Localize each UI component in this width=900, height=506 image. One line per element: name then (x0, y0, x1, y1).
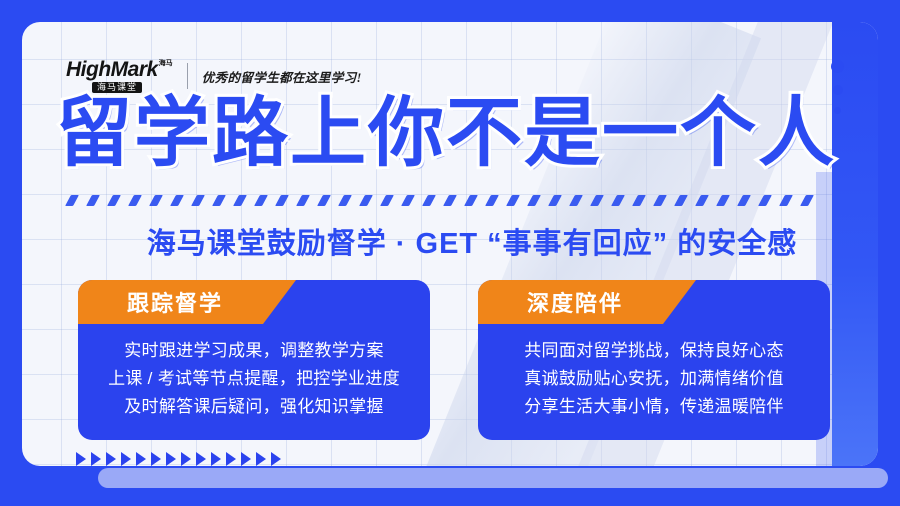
tick-mark-icon (569, 195, 583, 206)
card-line: 分享生活大事小情，传递温暖陪伴 (524, 396, 784, 419)
tick-mark-icon (758, 195, 772, 206)
tick-mark-icon (191, 195, 205, 206)
arrow-right-icon (106, 452, 116, 466)
content-panel: HighMark 海马 海马课堂 优秀的留学生都在这里学习! 留学路上你不是一个… (22, 22, 878, 466)
tick-mark-icon (275, 195, 289, 206)
arrow-right-icon (121, 452, 131, 466)
feature-card-tracking: 跟踪督学 实时跟进学习成果，调整教学方案 上课 / 考试等节点提醒，把控学业进度… (78, 280, 430, 440)
tick-mark-icon (86, 195, 100, 206)
tick-mark-icon (149, 195, 163, 206)
page-subtitle: 海马课堂鼓励督学 · GET “事事有回应” 的安全感 (22, 220, 878, 262)
arrow-row-decoration (76, 452, 281, 466)
tick-mark-icon (422, 195, 436, 206)
logo-wordmark-text: HighMark (66, 59, 158, 80)
brand-logo: HighMark 海马 海马课堂 (66, 59, 173, 93)
card-header-tab: 跟踪督学 (78, 280, 296, 324)
tick-mark-icon (107, 195, 121, 206)
tick-divider (68, 192, 858, 208)
tick-mark-icon (506, 195, 520, 206)
tick-mark-icon (695, 195, 709, 206)
card-line: 上课 / 考试等节点提醒，把控学业进度 (108, 368, 400, 391)
header-divider (187, 63, 188, 89)
tick-mark-icon (254, 195, 268, 206)
arrow-right-icon (241, 452, 251, 466)
card-title: 深度陪伴 (527, 286, 623, 318)
tick-mark-icon (296, 195, 310, 206)
tick-mark-icon (590, 195, 604, 206)
arrow-right-icon (91, 452, 101, 466)
brand-header: HighMark 海马 海马课堂 优秀的留学生都在这里学习! (66, 58, 362, 94)
tick-mark-icon (632, 195, 646, 206)
tick-mark-icon (233, 195, 247, 206)
card-body: 实时跟进学习成果，调整教学方案 上课 / 考试等节点提醒，把控学业进度 及时解答… (78, 324, 430, 419)
arrow-right-icon (151, 452, 161, 466)
tick-mark-icon (401, 195, 415, 206)
tick-mark-icon (170, 195, 184, 206)
tick-mark-icon (611, 195, 625, 206)
card-line: 共同面对留学挑战，保持良好心态 (524, 340, 784, 363)
tick-mark-icon (380, 195, 394, 206)
dot-large-icon (831, 60, 844, 73)
tick-mark-icon (338, 195, 352, 206)
feature-card-companionship: 深度陪伴 共同面对留学挑战，保持良好心态 真诚鼓励贴心安抚，加满情绪价值 分享生… (478, 280, 830, 440)
brand-tagline: 优秀的留学生都在这里学习! (202, 67, 362, 86)
arrow-right-icon (76, 452, 86, 466)
tick-mark-icon (779, 195, 793, 206)
arrow-right-icon (226, 452, 236, 466)
tick-mark-icon (464, 195, 478, 206)
tick-mark-icon (653, 195, 667, 206)
tick-mark-icon (548, 195, 562, 206)
arrow-right-icon (196, 452, 206, 466)
arrow-right-icon (211, 452, 221, 466)
tick-mark-icon (212, 195, 226, 206)
tick-mark-icon (527, 195, 541, 206)
card-body: 共同面对留学挑战，保持良好心态 真诚鼓励贴心安抚，加满情绪价值 分享生活大事小情… (478, 324, 830, 419)
card-line: 真诚鼓励贴心安抚，加满情绪价值 (524, 368, 784, 391)
card-header-tab: 深度陪伴 (478, 280, 696, 324)
tick-mark-icon (317, 195, 331, 206)
tick-mark-icon (737, 195, 751, 206)
arrow-right-icon (166, 452, 176, 466)
card-title: 跟踪督学 (127, 286, 223, 318)
arrow-right-icon (271, 452, 281, 466)
tick-mark-icon (128, 195, 142, 206)
card-line: 及时解答课后疑问，强化知识掌握 (124, 396, 384, 419)
tick-mark-icon (65, 195, 79, 206)
tick-mark-icon (674, 195, 688, 206)
arrow-right-icon (256, 452, 266, 466)
card-line: 实时跟进学习成果，调整教学方案 (124, 340, 384, 363)
tick-mark-icon (800, 195, 814, 206)
panel-shadow-bar (98, 468, 888, 488)
tick-mark-icon (485, 195, 499, 206)
poster-root: HighMark 海马 海马课堂 优秀的留学生都在这里学习! 留学路上你不是一个… (0, 0, 900, 506)
page-title: 留学路上你不是一个人 (56, 96, 856, 172)
tick-mark-icon (359, 195, 373, 206)
tick-mark-icon (716, 195, 730, 206)
logo-tm-mark: 海马 (159, 60, 173, 67)
arrow-right-icon (136, 452, 146, 466)
tick-mark-icon (443, 195, 457, 206)
logo-wordmark: HighMark 海马 (66, 59, 173, 80)
arrow-right-icon (181, 452, 191, 466)
